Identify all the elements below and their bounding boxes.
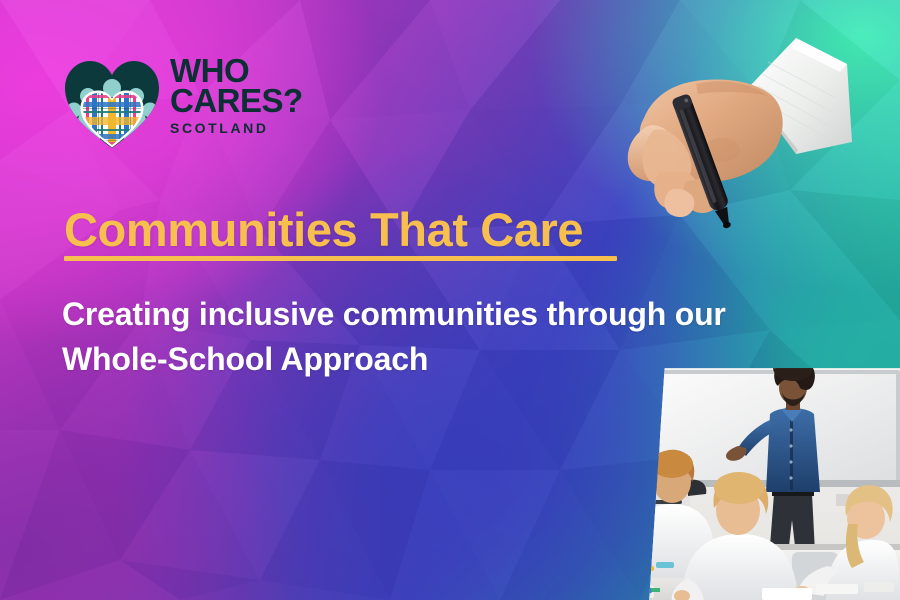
logo-word-scotland: SCOTLAND bbox=[170, 122, 310, 135]
hand-holding-marker-illustration bbox=[600, 22, 900, 232]
heart-logo-icon bbox=[62, 54, 162, 154]
title-underline bbox=[64, 256, 617, 261]
subtitle-line-1: Creating inclusive communities through o… bbox=[62, 292, 832, 337]
who-cares-scotland-logo: WHO CARES? SCOTLAND bbox=[62, 54, 308, 154]
campaign-banner: WHO CARES? SCOTLAND bbox=[0, 0, 900, 600]
page-title: Communities That Care bbox=[64, 206, 684, 254]
logo-wordmark: WHO CARES? SCOTLAND bbox=[170, 56, 310, 135]
logo-word-cares: CARES? bbox=[170, 86, 310, 116]
